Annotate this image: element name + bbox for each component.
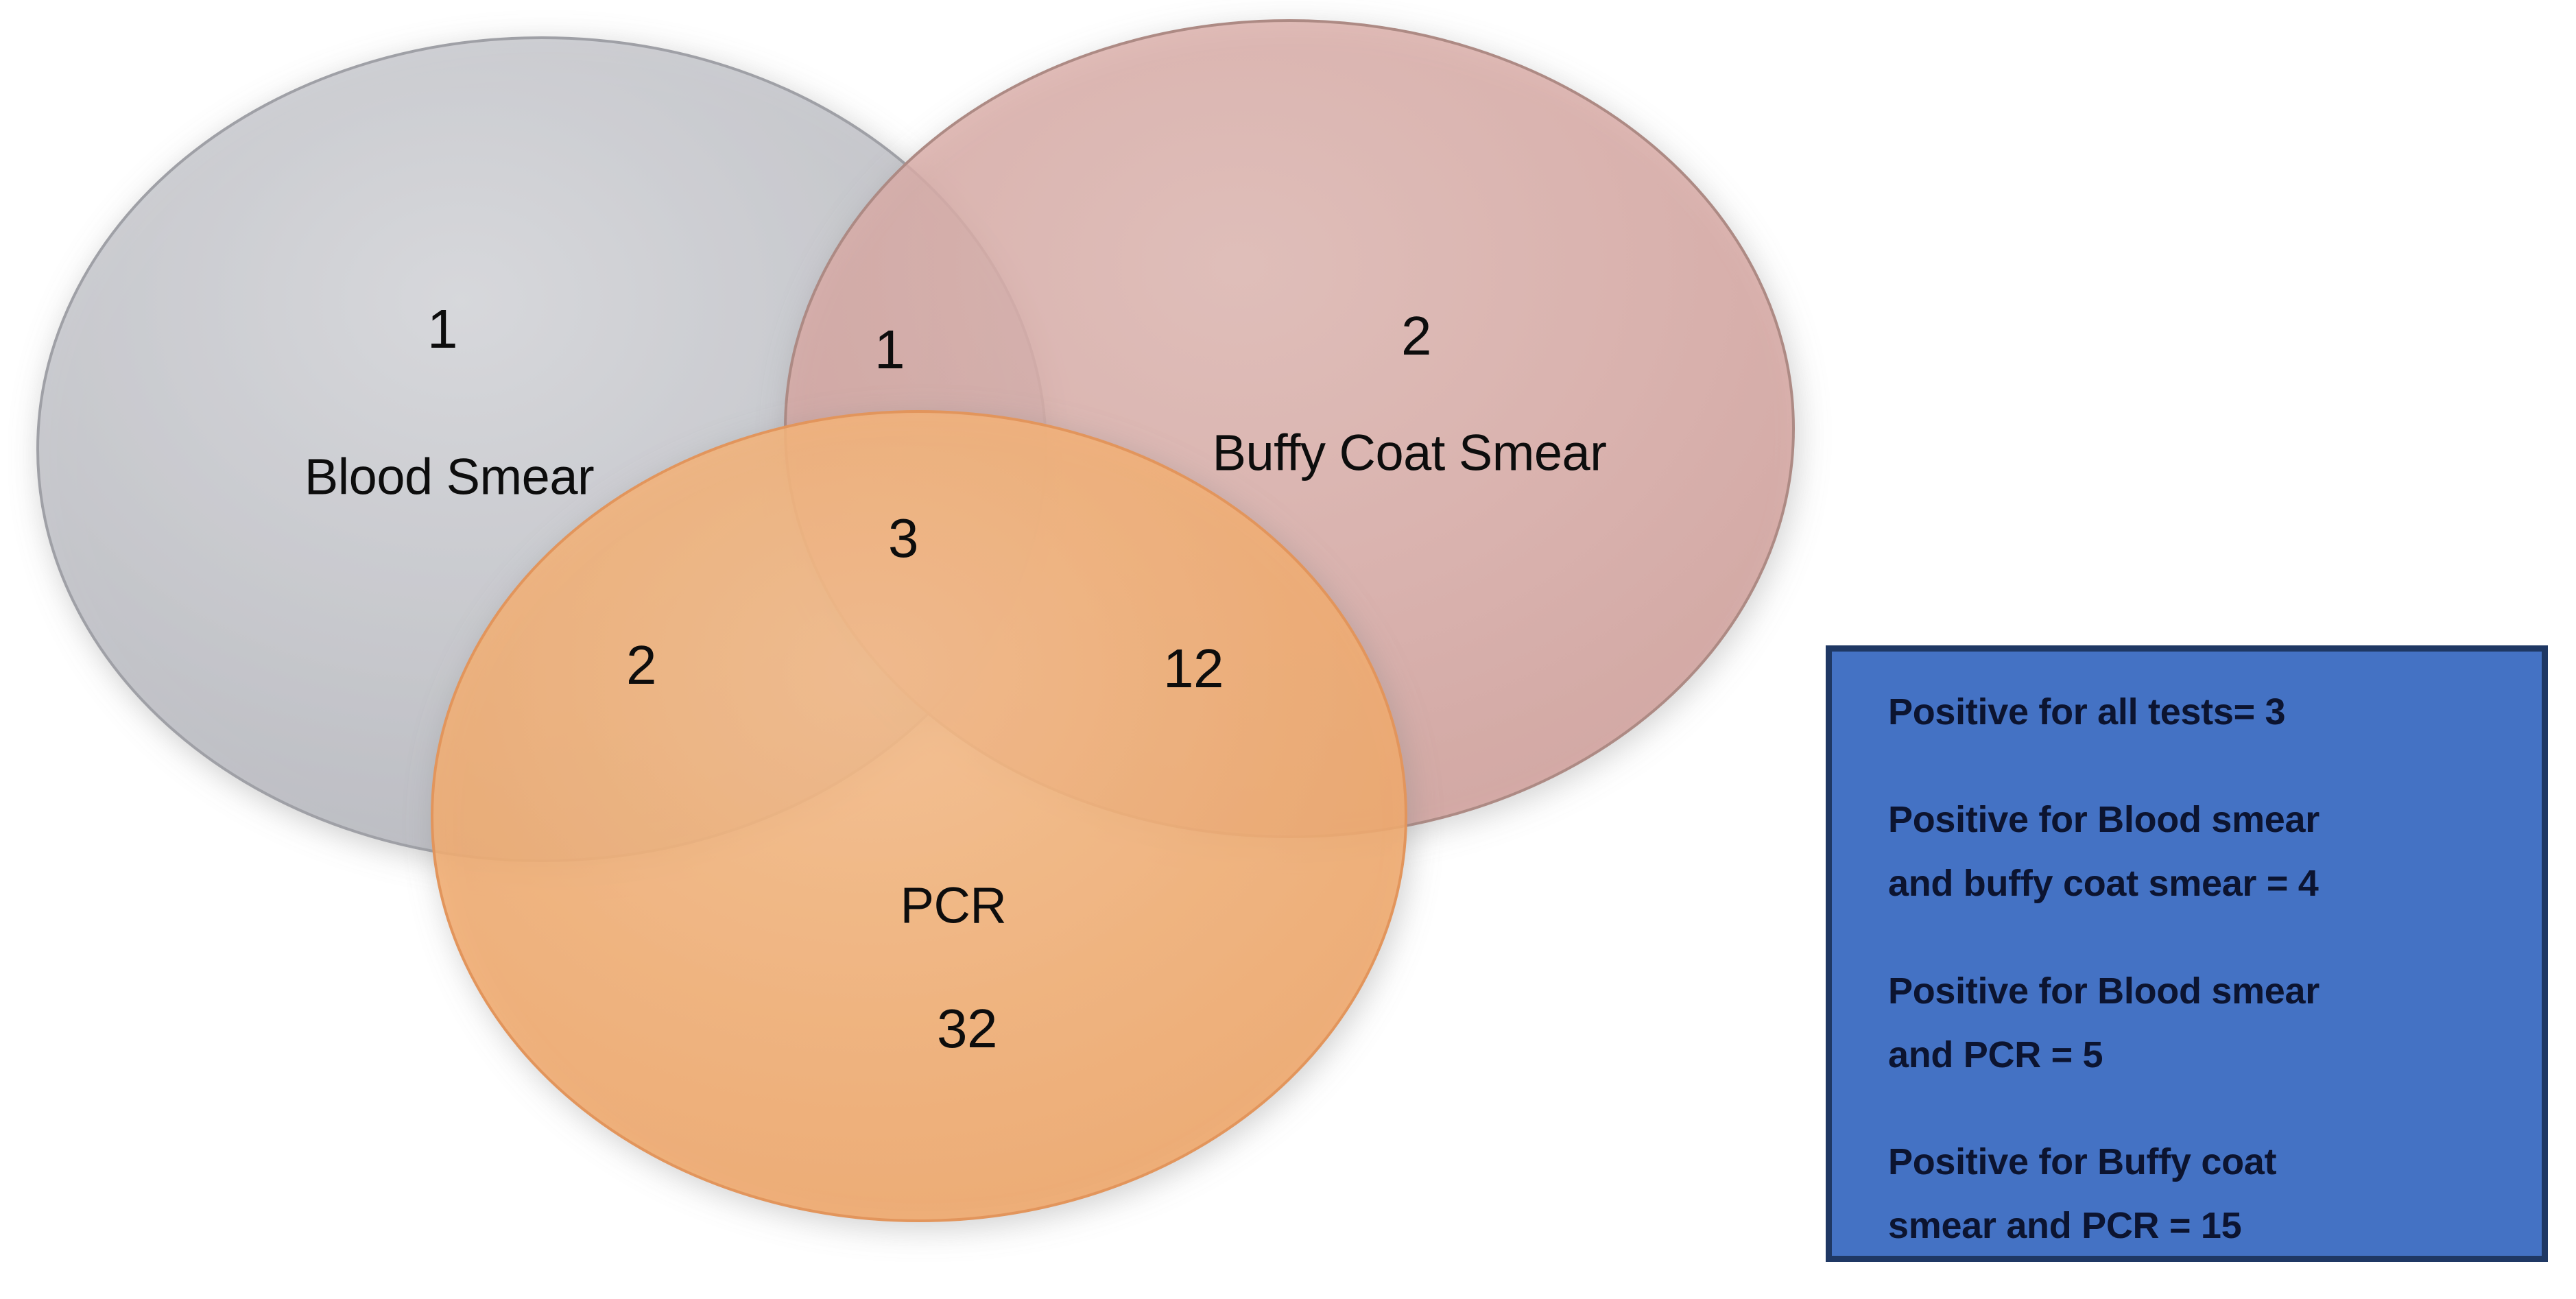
legend-panel: Positive for all tests= 3 Positive for B… xyxy=(1826,645,2548,1262)
count-pcr-only: 32 xyxy=(937,997,997,1060)
count-blood-smear-only: 1 xyxy=(427,298,457,361)
count-all-three: 3 xyxy=(888,507,918,570)
venn-diagram-figure: Blood Smear Buffy Coat Smear PCR 1 2 32 … xyxy=(0,0,2576,1299)
count-buffy-coat-smear-only: 2 xyxy=(1401,305,1431,368)
legend-items-list: Positive for all tests= 3 Positive for B… xyxy=(1888,680,2528,1258)
legend-item-all-tests: Positive for all tests= 3 xyxy=(1888,680,2528,744)
count-blood-and-pcr: 2 xyxy=(626,634,656,697)
set-label-blood-smear: Blood Smear xyxy=(305,448,594,506)
legend-item-blood-and-buffy: Positive for Blood smear and buffy coat … xyxy=(1888,788,2528,916)
venn-circles-group xyxy=(0,0,1852,1299)
count-blood-and-buffy: 1 xyxy=(874,318,905,381)
count-buffy-and-pcr: 12 xyxy=(1163,637,1224,700)
venn-ellipse-pcr xyxy=(432,412,1406,1221)
legend-item-buffy-and-pcr: Positive for Buffy coat smear and PCR = … xyxy=(1888,1130,2528,1258)
set-label-buffy-coat-smear: Buffy Coat Smear xyxy=(1213,424,1607,482)
set-label-pcr: PCR xyxy=(901,877,1007,935)
legend-item-blood-and-pcr: Positive for Blood smear and PCR = 5 xyxy=(1888,960,2528,1087)
